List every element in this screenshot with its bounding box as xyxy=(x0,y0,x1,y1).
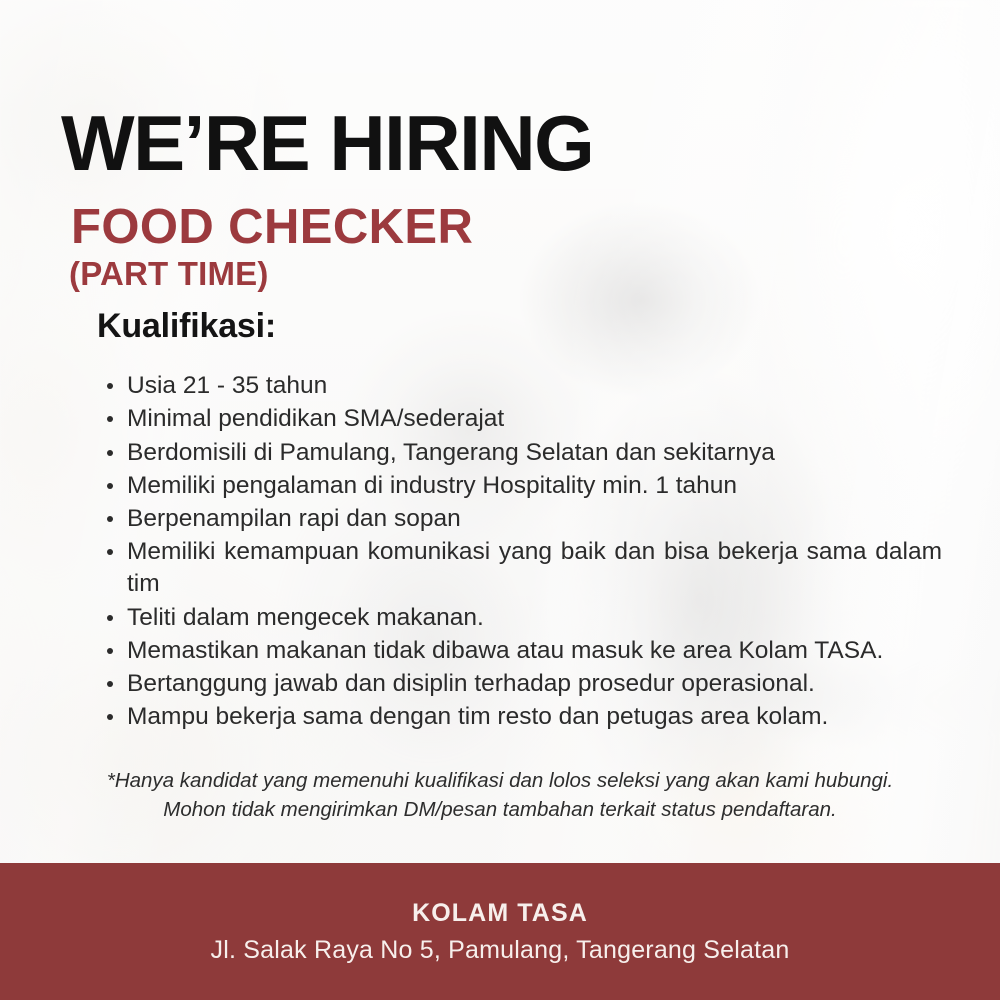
qualifications-list: Usia 21 - 35 tahun Minimal pendidikan SM… xyxy=(100,370,942,735)
qualification-item: Teliti dalam mengecek makanan. xyxy=(100,602,942,634)
headline-were-hiring: WE’RE HIRING xyxy=(61,108,593,180)
qualification-item: Usia 21 - 35 tahun xyxy=(100,370,942,402)
qualification-item: Berpenampilan rapi dan sopan xyxy=(100,503,942,535)
qualifications-heading: Kualifikasi: xyxy=(97,307,276,346)
company-name: KOLAM TASA xyxy=(412,899,588,928)
employment-type: (PART TIME) xyxy=(69,257,269,290)
poster-content: WE’RE HIRING FOOD CHECKER (PART TIME) Ku… xyxy=(0,0,1000,1000)
qualification-item: Mampu bekerja sama dengan tim resto dan … xyxy=(100,701,942,733)
qualification-item: Bertanggung jawab dan disiplin terhadap … xyxy=(100,668,942,700)
company-address: Jl. Salak Raya No 5, Pamulang, Tangerang… xyxy=(211,936,790,965)
qualification-item: Memiliki pengalaman di industry Hospital… xyxy=(100,470,942,502)
qualification-item: Memiliki kemampuan komunikasi yang baik … xyxy=(100,536,942,600)
qualification-item: Minimal pendidikan SMA/sederajat xyxy=(100,403,942,435)
application-disclaimer: *Hanya kandidat yang memenuhi kualifikas… xyxy=(88,766,912,824)
footer-bar: KOLAM TASA Jl. Salak Raya No 5, Pamulang… xyxy=(0,863,1000,1000)
qualification-item: Berdomisili di Pamulang, Tangerang Selat… xyxy=(100,437,942,469)
qualification-item: Memastikan makanan tidak dibawa atau mas… xyxy=(100,635,942,667)
job-title: FOOD CHECKER xyxy=(71,203,473,252)
job-vacancy-poster: WE’RE HIRING FOOD CHECKER (PART TIME) Ku… xyxy=(0,0,1000,1000)
